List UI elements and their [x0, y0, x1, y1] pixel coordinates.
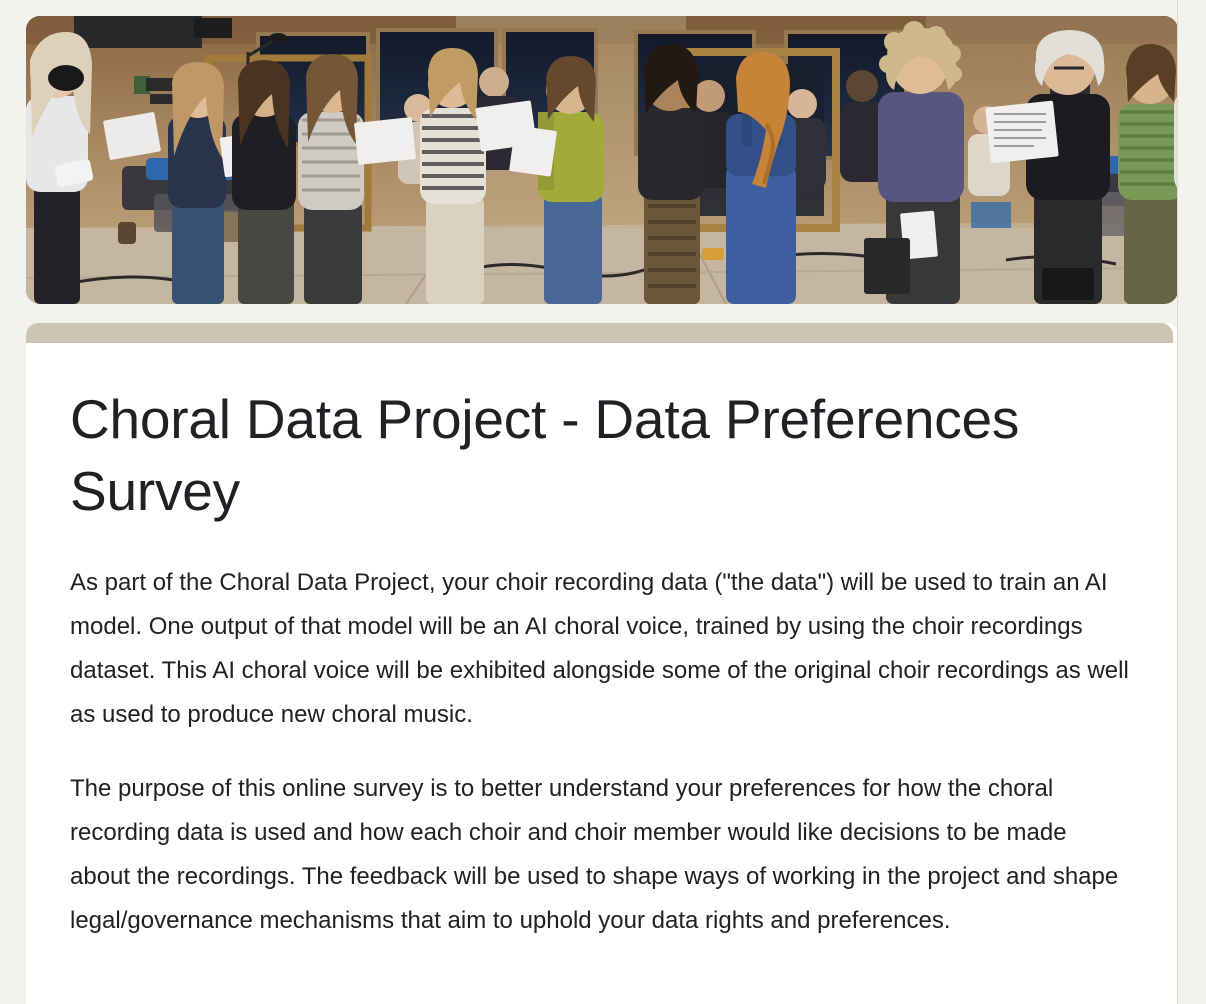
- survey-description-paragraph-1: As part of the Choral Data Project, your…: [70, 561, 1130, 737]
- vertical-scrollbar[interactable]: [1177, 0, 1206, 1004]
- card-accent-bar: [26, 323, 1173, 343]
- survey-card: Choral Data Project - Data Preferences S…: [26, 323, 1178, 1004]
- hero-photo-choir-rehearsal: [26, 16, 1178, 304]
- choir-rehearsal-illustration: [26, 16, 1178, 304]
- survey-card-body: Choral Data Project - Data Preferences S…: [26, 343, 1178, 943]
- survey-page: Choral Data Project - Data Preferences S…: [0, 0, 1206, 1004]
- survey-title: Choral Data Project - Data Preferences S…: [70, 383, 1100, 527]
- survey-description-paragraph-2: The purpose of this online survey is to …: [70, 767, 1130, 943]
